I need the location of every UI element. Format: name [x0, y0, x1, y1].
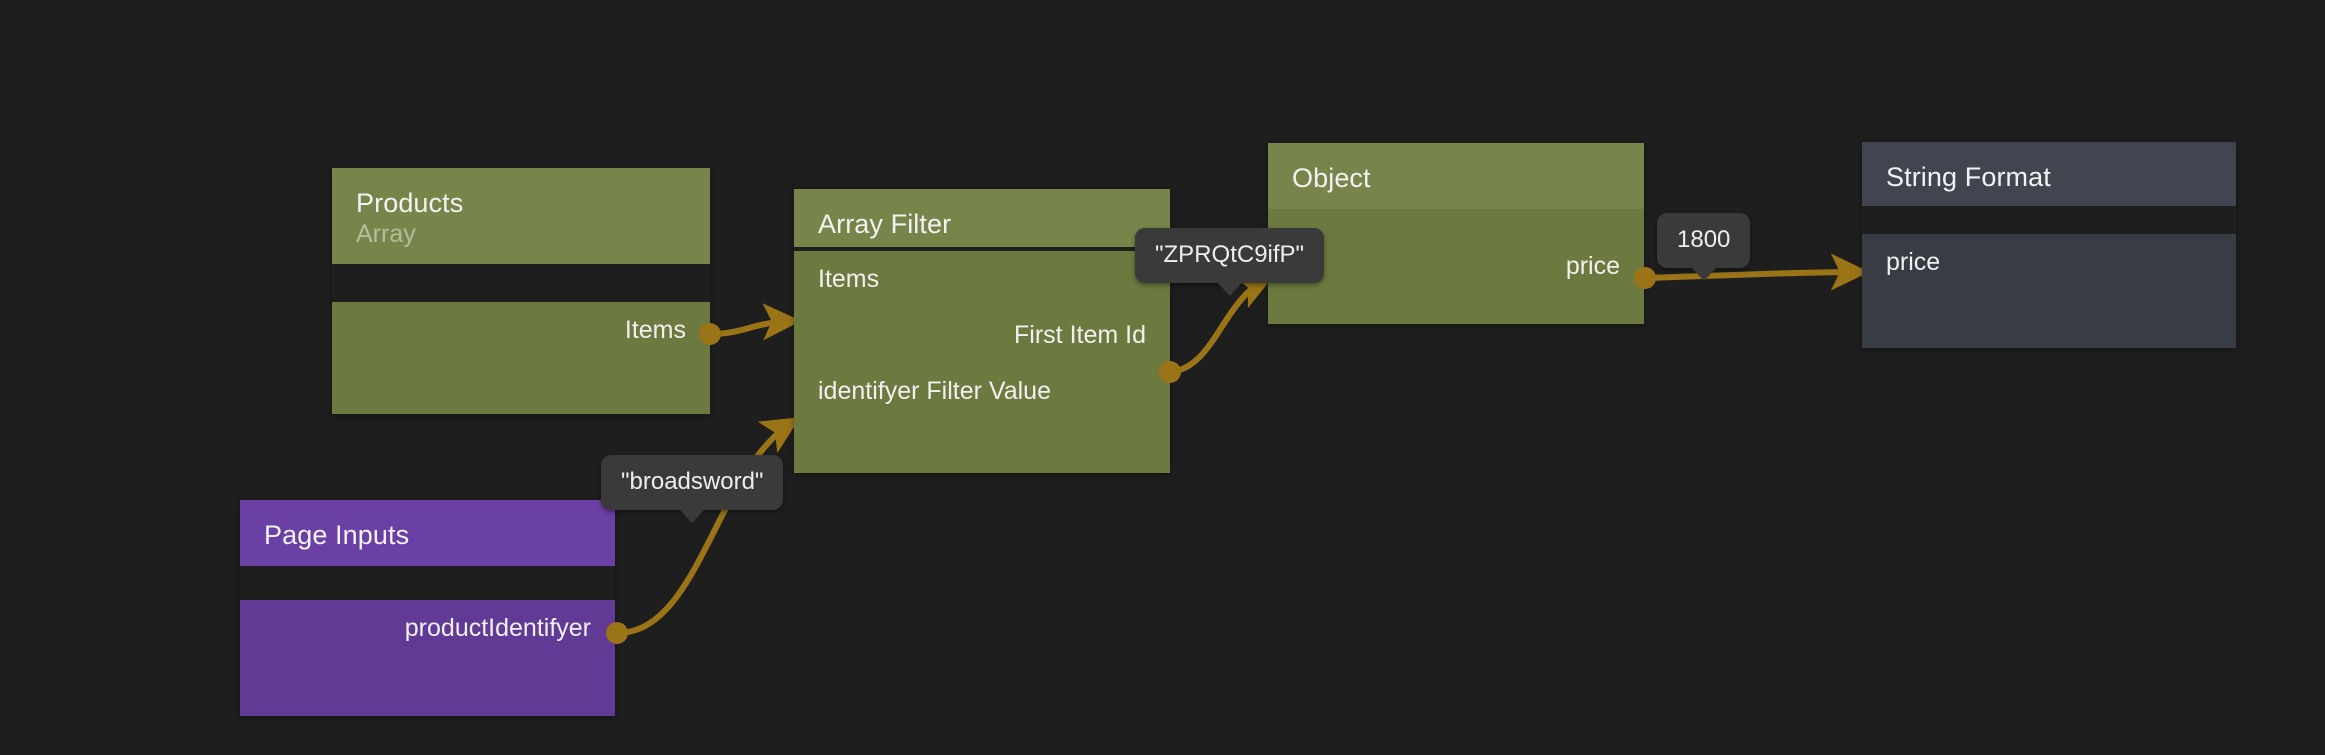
node-page-inputs-header[interactable]: Page Inputs	[240, 500, 615, 566]
port-label-object-price: price	[1566, 252, 1620, 281]
node-products[interactable]: Products Array Items	[332, 168, 710, 414]
node-object-title: Object	[1292, 163, 1620, 195]
tooltip-price-value: 1800	[1657, 213, 1750, 268]
node-object-body: Id price	[1268, 209, 1644, 324]
node-object-header[interactable]: Object	[1268, 143, 1644, 209]
tooltip-first-item-id-value: "ZPRQtC9ifP"	[1135, 228, 1324, 283]
port-label-products-items: Items	[625, 316, 686, 345]
port-row-string-format-price[interactable]: price	[1862, 234, 2236, 290]
port-row-array-filter-filter-value[interactable]: identifyer Filter Value	[794, 363, 1170, 419]
node-string-format-body: price	[1862, 234, 2236, 348]
port-label-array-filter-items: Items	[818, 265, 879, 294]
port-row-array-filter-first-item-id[interactable]: First Item Id	[794, 307, 1170, 363]
node-products-subtitle: Array	[356, 220, 686, 250]
node-array-filter-body: Items First Item Id identifyer Filter Va…	[794, 251, 1170, 473]
tooltip-product-identifyer-value: "broadsword"	[601, 455, 783, 510]
port-row-object-price[interactable]: price	[1268, 238, 1644, 294]
node-object[interactable]: Object Id price	[1268, 143, 1644, 324]
node-page-inputs[interactable]: Page Inputs productIdentifyer	[240, 500, 615, 716]
port-dot-array-filter-first-item-id[interactable]	[1159, 361, 1181, 383]
node-page-inputs-body: productIdentifyer	[240, 600, 615, 716]
port-dot-object-price[interactable]	[1634, 267, 1656, 289]
port-row-array-filter-items[interactable]: Items	[794, 251, 1170, 307]
node-products-header[interactable]: Products Array	[332, 168, 710, 264]
tooltip-first-item-id-text: "ZPRQtC9ifP"	[1155, 241, 1304, 268]
wire-products-items-to-arrayfilter-items	[710, 321, 794, 334]
node-string-format-header[interactable]: String Format	[1862, 142, 2236, 206]
tooltip-price-text: 1800	[1677, 226, 1730, 253]
port-dot-products-items[interactable]	[699, 323, 721, 345]
node-products-title: Products	[356, 188, 686, 220]
node-string-format-title: String Format	[1886, 162, 2212, 194]
node-string-format[interactable]: String Format price	[1862, 142, 2236, 348]
wire-object-price-to-stringformat-price	[1645, 272, 1862, 278]
node-products-body: Items	[332, 302, 710, 414]
node-array-filter[interactable]: Array Filter Items First Item Id identif…	[794, 189, 1170, 473]
tooltip-product-identifyer-text: "broadsword"	[621, 468, 763, 495]
port-row-products-items[interactable]: Items	[332, 302, 710, 358]
port-label-page-inputs-product-identifyer: productIdentifyer	[405, 614, 591, 643]
port-label-string-format-price: price	[1886, 248, 1940, 277]
port-label-array-filter-first-item-id: First Item Id	[1014, 321, 1146, 350]
port-row-page-inputs-product-identifyer[interactable]: productIdentifyer	[240, 600, 615, 656]
node-page-inputs-title: Page Inputs	[264, 520, 591, 552]
node-graph-canvas[interactable]: Products Array Items Array Filter Items …	[0, 0, 2325, 755]
node-array-filter-title: Array Filter	[818, 209, 1146, 241]
wire-pageinputs-to-arrayfilter-filtervalue	[617, 421, 794, 633]
node-array-filter-header[interactable]: Array Filter	[794, 189, 1170, 247]
port-dot-page-inputs-product-identifyer[interactable]	[606, 622, 628, 644]
port-label-array-filter-filter-value: identifyer Filter Value	[818, 377, 1051, 406]
